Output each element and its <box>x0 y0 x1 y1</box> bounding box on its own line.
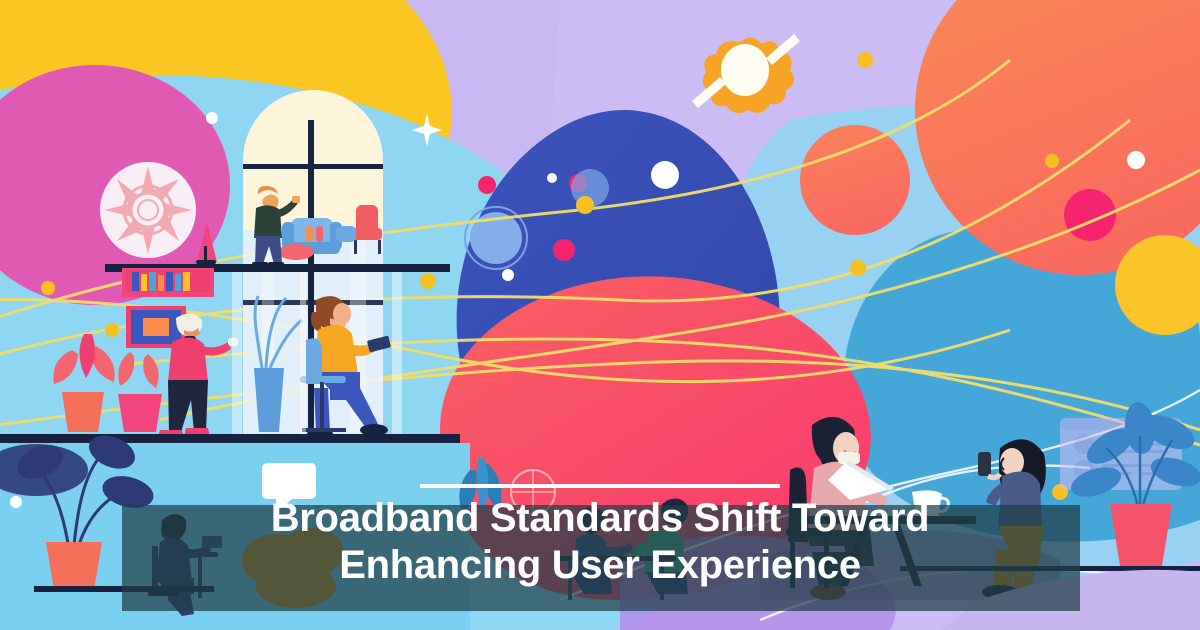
floor-slab-middle <box>0 434 460 443</box>
orange-circle-small <box>800 125 910 235</box>
pink-dot <box>553 239 575 261</box>
blue-stool <box>336 226 356 242</box>
white-dot-large <box>651 161 679 189</box>
blue-sofa <box>278 218 342 260</box>
hero-banner: Broadband Standards Shift TowardEnhancin… <box>0 0 1200 630</box>
white-dot <box>10 496 22 508</box>
title-divider <box>420 484 780 488</box>
white-dot <box>547 173 557 183</box>
white-dot <box>206 112 218 124</box>
title-overlay-panel <box>122 505 1080 611</box>
compass-rose-icon <box>100 162 196 258</box>
white-dot <box>502 269 514 281</box>
